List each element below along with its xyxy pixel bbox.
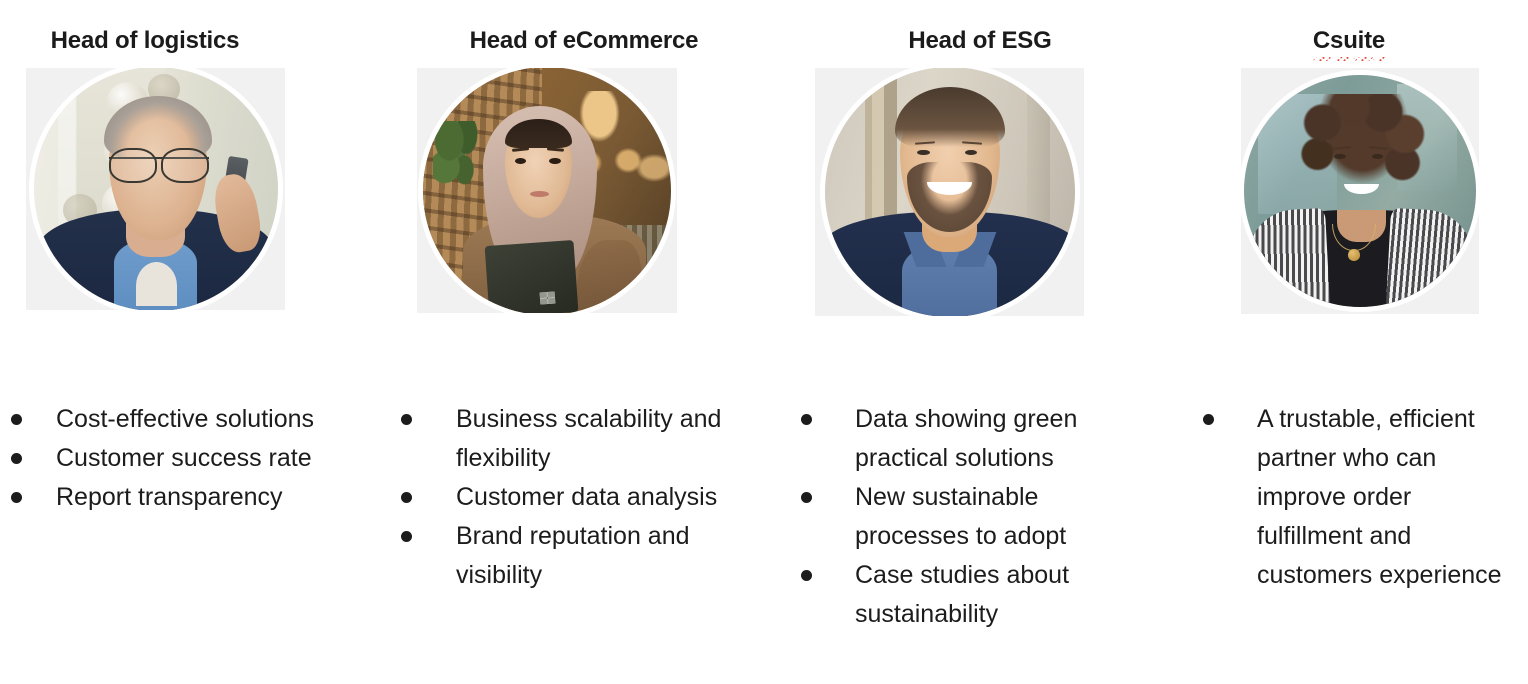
list-item: New sustainable processes to adopt bbox=[790, 478, 1180, 556]
list-item: Brand reputation and visibility bbox=[390, 517, 790, 595]
bullet-icon bbox=[11, 414, 22, 425]
persona-board: Head of logistics bbox=[0, 0, 1528, 684]
persona-photo-panel bbox=[26, 68, 285, 310]
list-item-label: Case studies about sustainability bbox=[855, 556, 1145, 634]
portrait-head-of-ecommerce-image bbox=[423, 68, 671, 313]
list-item-label: Customer data analysis bbox=[456, 478, 746, 517]
list-item: Customer success rate bbox=[0, 439, 390, 478]
bullet-icon bbox=[401, 531, 412, 542]
list-item: Report transparency bbox=[0, 478, 390, 517]
list-item-label: A trustable, efficient partner who can i… bbox=[1257, 400, 1507, 595]
bullet-icon bbox=[801, 414, 812, 425]
portrait-undershirt bbox=[136, 262, 177, 306]
persona-needs-list: Data showing green practical solutions N… bbox=[790, 400, 1180, 634]
persona-photo-panel bbox=[1241, 68, 1479, 314]
portrait-eye bbox=[549, 158, 560, 164]
portrait-eye bbox=[1334, 154, 1346, 159]
bullet-icon bbox=[401, 492, 412, 503]
persona-needs-list: A trustable, efficient partner who can i… bbox=[1180, 400, 1528, 595]
list-item: A trustable, efficient partner who can i… bbox=[1180, 400, 1528, 595]
list-item: Cost-effective solutions bbox=[0, 400, 390, 439]
persona-title-misspelled-text: Csuite bbox=[1313, 26, 1385, 56]
persona-column-head-of-logistics: Head of logistics bbox=[0, 0, 390, 684]
persona-avatar bbox=[1244, 75, 1476, 307]
portrait-laptop bbox=[485, 240, 579, 313]
list-item: Data showing green practical solutions bbox=[790, 400, 1180, 478]
list-item-label: Report transparency bbox=[56, 478, 326, 517]
list-item-label: Brand reputation and visibility bbox=[456, 517, 746, 595]
list-item: Business scalability and flexibility bbox=[390, 400, 790, 478]
persona-title: Head of logistics bbox=[0, 26, 390, 56]
persona-avatar bbox=[423, 68, 671, 313]
persona-avatar bbox=[34, 68, 278, 310]
list-item-label: Cost-effective solutions bbox=[56, 400, 326, 439]
persona-avatar bbox=[825, 68, 1075, 316]
persona-column-head-of-esg: Head of ESG bbox=[790, 0, 1180, 684]
persona-column-head-of-ecommerce: Head of eCommerce bbox=[390, 0, 790, 684]
bullet-icon bbox=[1203, 414, 1214, 425]
bullet-icon bbox=[801, 492, 812, 503]
portrait-eye bbox=[917, 150, 930, 156]
portrait-eye bbox=[515, 158, 526, 164]
bullet-icon bbox=[11, 453, 22, 464]
portrait-pendant bbox=[1348, 249, 1360, 261]
list-item: Customer data analysis bbox=[390, 478, 790, 517]
portrait-laptop-logo-icon bbox=[539, 292, 555, 305]
portrait-csuite-image bbox=[1244, 75, 1476, 307]
list-item-label: Customer success rate bbox=[56, 439, 326, 478]
portrait-eye bbox=[965, 150, 978, 156]
list-item-label: Data showing green practical solutions bbox=[855, 400, 1145, 478]
persona-photo-panel bbox=[417, 68, 677, 313]
portrait-head-of-logistics-image bbox=[34, 68, 278, 310]
portrait-glasses bbox=[109, 148, 209, 180]
persona-title: Head of ESG bbox=[790, 26, 1180, 56]
list-item-label: Business scalability and flexibility bbox=[456, 400, 746, 478]
list-item-label: New sustainable processes to adopt bbox=[855, 478, 1145, 556]
persona-photo-panel bbox=[815, 68, 1084, 316]
portrait-head-of-esg-image bbox=[825, 68, 1075, 316]
persona-needs-list: Business scalability and flexibility Cus… bbox=[390, 400, 790, 595]
portrait-plant bbox=[433, 121, 488, 195]
list-item: Case studies about sustainability bbox=[790, 556, 1180, 634]
bullet-icon bbox=[801, 570, 812, 581]
persona-column-csuite: Csuite bbox=[1180, 0, 1528, 684]
persona-title: Head of eCommerce bbox=[390, 26, 790, 56]
bullet-icon bbox=[11, 492, 22, 503]
portrait-eye bbox=[1372, 154, 1384, 159]
persona-title: Csuite bbox=[1180, 26, 1528, 56]
bullet-icon bbox=[401, 414, 412, 425]
persona-needs-list: Cost-effective solutions Customer succes… bbox=[0, 400, 390, 517]
